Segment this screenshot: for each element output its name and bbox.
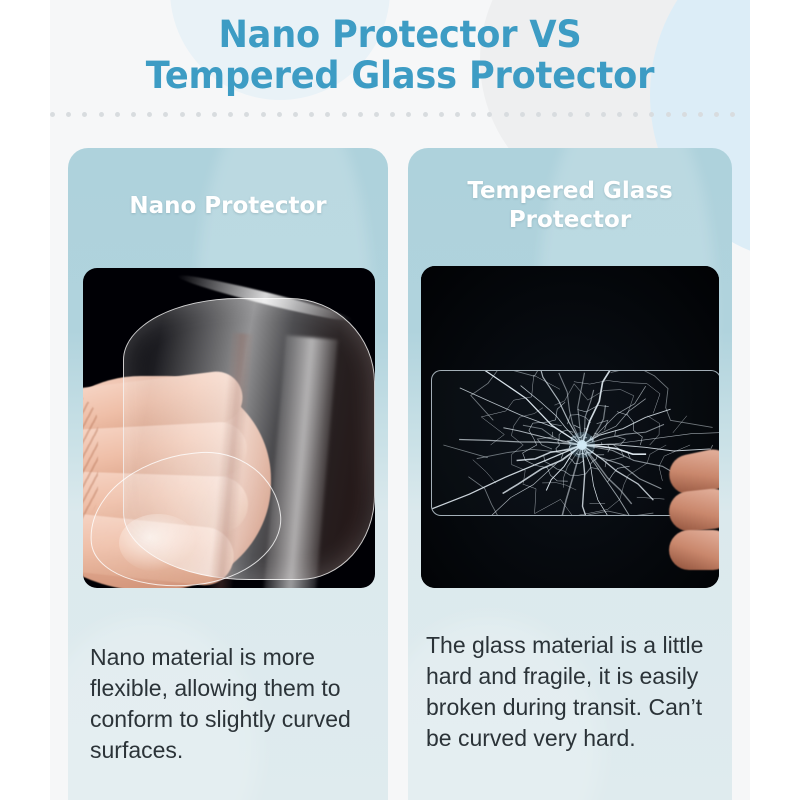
divider-dot	[147, 112, 152, 117]
knuckle-texture	[83, 394, 98, 524]
panel-caption-tempered-glass: The glass material is a little hard and …	[426, 630, 718, 754]
divider-dot	[552, 112, 557, 117]
panel-nano-protector: Nano Protector Nano material is more fle…	[68, 148, 388, 800]
divider-dot	[115, 112, 120, 117]
divider-dot	[504, 112, 509, 117]
divider-dot	[601, 112, 606, 117]
film-reflection-bright	[262, 335, 338, 588]
divider-dot	[342, 112, 347, 117]
divider-dot	[228, 112, 233, 117]
divider-dot	[50, 112, 55, 117]
divider-dot	[374, 112, 379, 117]
divider-dot	[99, 112, 104, 117]
divider-dot	[196, 112, 201, 117]
divider-dot	[455, 112, 460, 117]
infographic-page: Nano Protector VS Tempered Glass Protect…	[0, 0, 800, 800]
panel-tempered-glass: Tempered Glass Protector The	[408, 148, 732, 800]
divider-dot	[180, 112, 185, 117]
divider-dot	[666, 112, 671, 117]
fingers-holding-glass	[663, 452, 719, 588]
divider-dot	[390, 112, 395, 117]
divider-dot	[568, 112, 573, 117]
shattered-glass-photo	[421, 266, 719, 588]
panel-heading-line-2: Protector	[509, 207, 631, 233]
nano-film-photo	[83, 268, 375, 588]
divider-dot	[633, 112, 638, 117]
divider-dot	[487, 112, 492, 117]
nano-film-scene	[83, 268, 375, 588]
page-title-line-2: Tempered Glass Protector	[20, 55, 780, 96]
glass-scene	[421, 266, 719, 588]
divider-dot	[714, 112, 719, 117]
panel-heading-line-1: Tempered Glass	[467, 178, 672, 204]
divider-dot	[212, 112, 217, 117]
divider-dot	[536, 112, 541, 117]
divider-dot	[471, 112, 476, 117]
divider-dot	[698, 112, 703, 117]
divider-dot	[244, 112, 249, 117]
dotted-divider	[50, 112, 750, 118]
divider-dot	[439, 112, 444, 117]
panel-caption-nano: Nano material is more flexible, allowing…	[90, 642, 376, 766]
divider-dot	[682, 112, 687, 117]
page-title: Nano Protector VS Tempered Glass Protect…	[20, 14, 780, 96]
divider-dot	[66, 112, 71, 117]
header: Nano Protector VS Tempered Glass Protect…	[0, 0, 800, 108]
divider-dot	[163, 112, 168, 117]
divider-dot	[293, 112, 298, 117]
divider-dot	[131, 112, 136, 117]
panel-heading-tempered-glass: Tempered Glass Protector	[408, 177, 732, 235]
divider-dot	[617, 112, 622, 117]
divider-dot	[309, 112, 314, 117]
divider-dot	[82, 112, 87, 117]
finger-2	[667, 487, 719, 533]
divider-dot	[358, 112, 363, 117]
divider-dot	[325, 112, 330, 117]
panel-heading-nano: Nano Protector	[68, 192, 388, 221]
divider-dot	[406, 112, 411, 117]
divider-dot	[649, 112, 654, 117]
divider-dot	[585, 112, 590, 117]
divider-dot	[520, 112, 525, 117]
divider-dot	[730, 112, 735, 117]
divider-dot	[261, 112, 266, 117]
finger-3	[669, 530, 719, 570]
divider-dot	[423, 112, 428, 117]
divider-dot	[277, 112, 282, 117]
page-title-line-1: Nano Protector VS	[20, 14, 780, 55]
